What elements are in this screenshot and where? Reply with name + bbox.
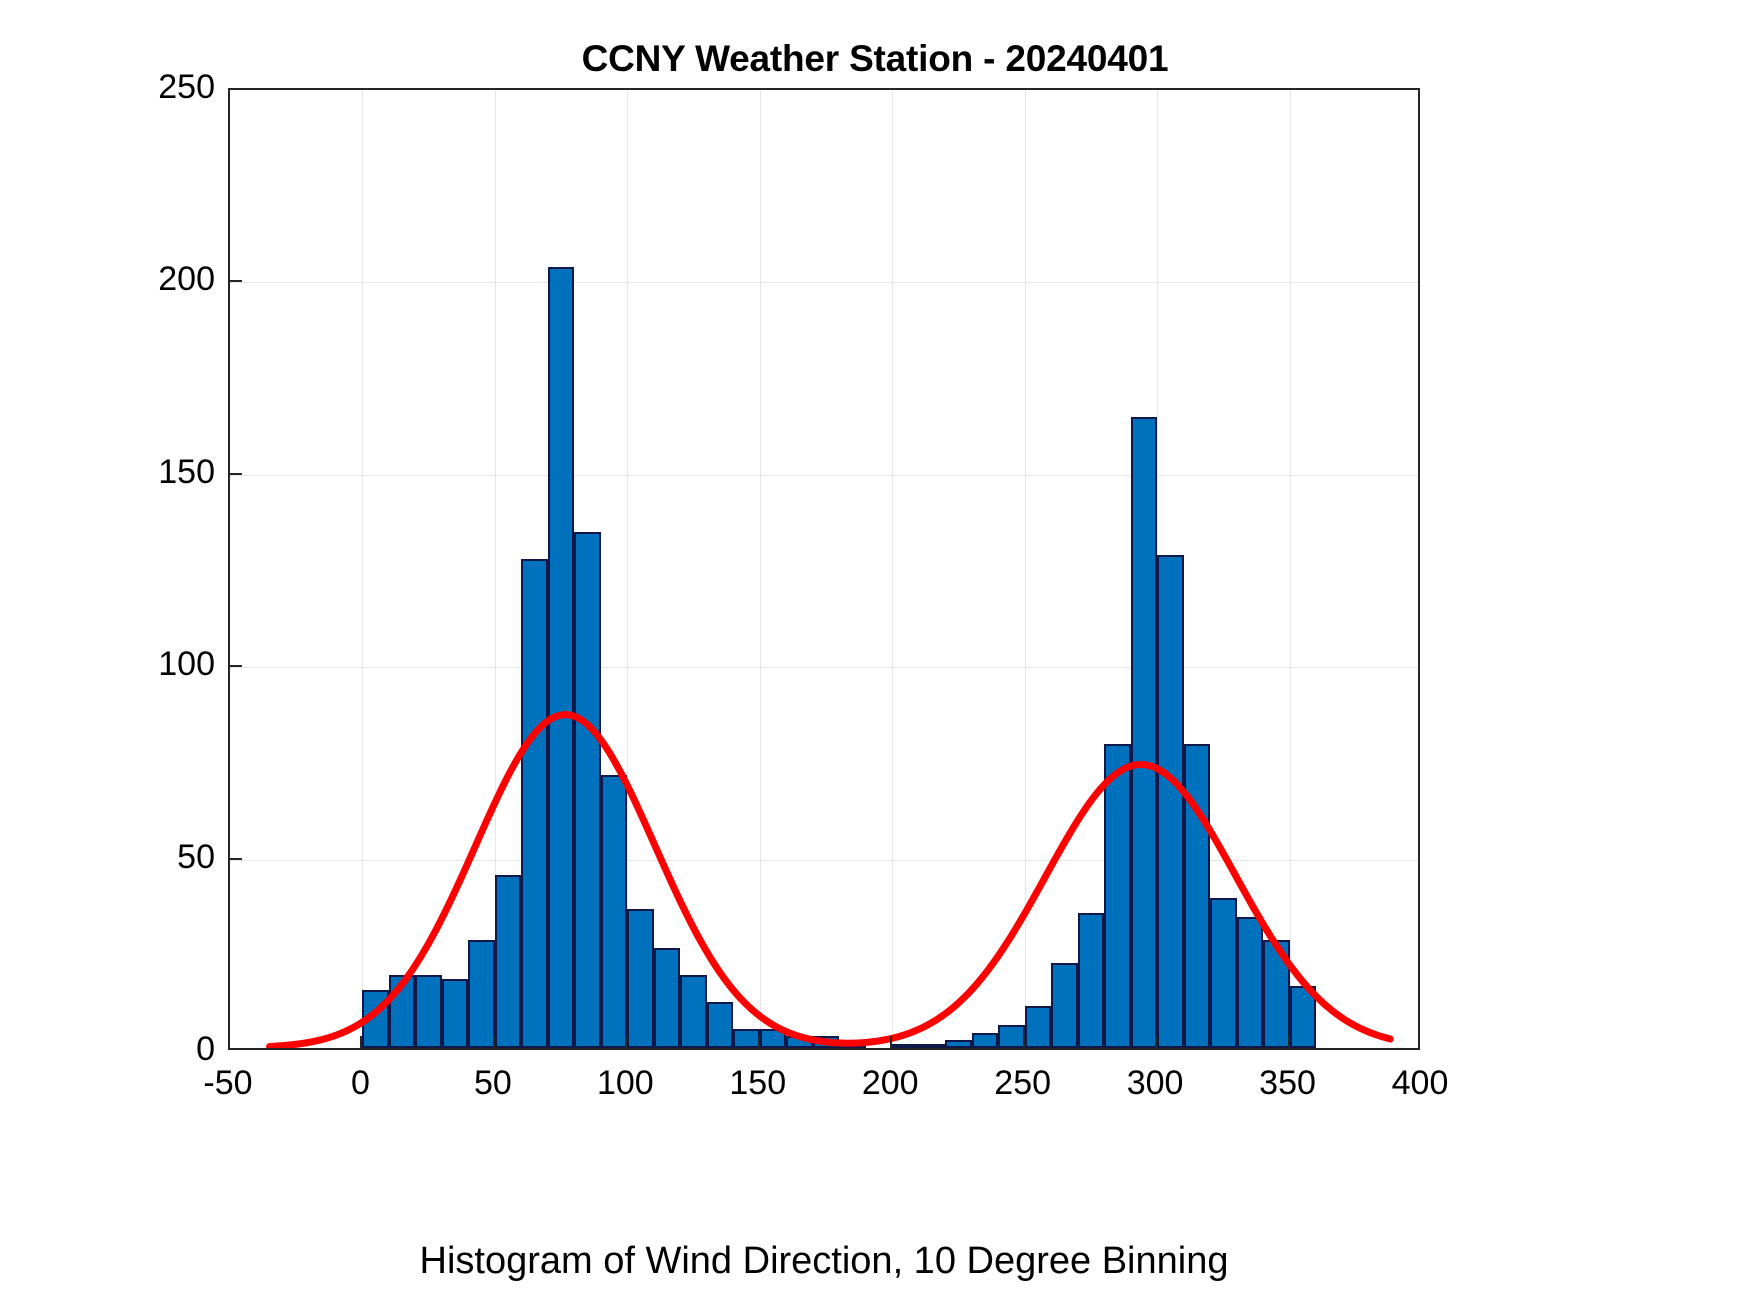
x-tick-mark: [1288, 1036, 1290, 1050]
x-tick-mark: [625, 1036, 627, 1050]
page-title: CCNY Weather Station - 20240401: [0, 38, 1750, 80]
plot-axes: [228, 88, 1420, 1050]
y-tick-label: 0: [15, 1032, 215, 1066]
x-tick-mark: [360, 1036, 362, 1050]
x-tick-mark: [1023, 1036, 1025, 1050]
x-tick-mark: [758, 1036, 760, 1050]
y-tick-label: 250: [15, 70, 215, 104]
x-tick-mark: [1155, 1036, 1157, 1050]
y-tick-mark: [228, 665, 242, 667]
y-tick-label: 100: [15, 647, 215, 681]
x-tick-mark: [493, 1036, 495, 1050]
y-tick-mark: [228, 280, 242, 282]
x-tick-mark: [890, 1036, 892, 1050]
x-tick-label: 400: [1320, 1066, 1520, 1100]
y-tick-label: 200: [15, 262, 215, 296]
y-tick-mark: [228, 858, 242, 860]
x-axis-title: Histogram of Wind Direction, 10 Degree B…: [228, 1240, 1420, 1283]
y-tick-label: 150: [15, 455, 215, 489]
figure-canvas: CCNY Weather Station - 20240401 05010015…: [0, 0, 1750, 1313]
y-tick-label: 50: [15, 840, 215, 874]
y-tick-mark: [228, 473, 242, 475]
gaussian-fit-curve: [230, 90, 1418, 1048]
